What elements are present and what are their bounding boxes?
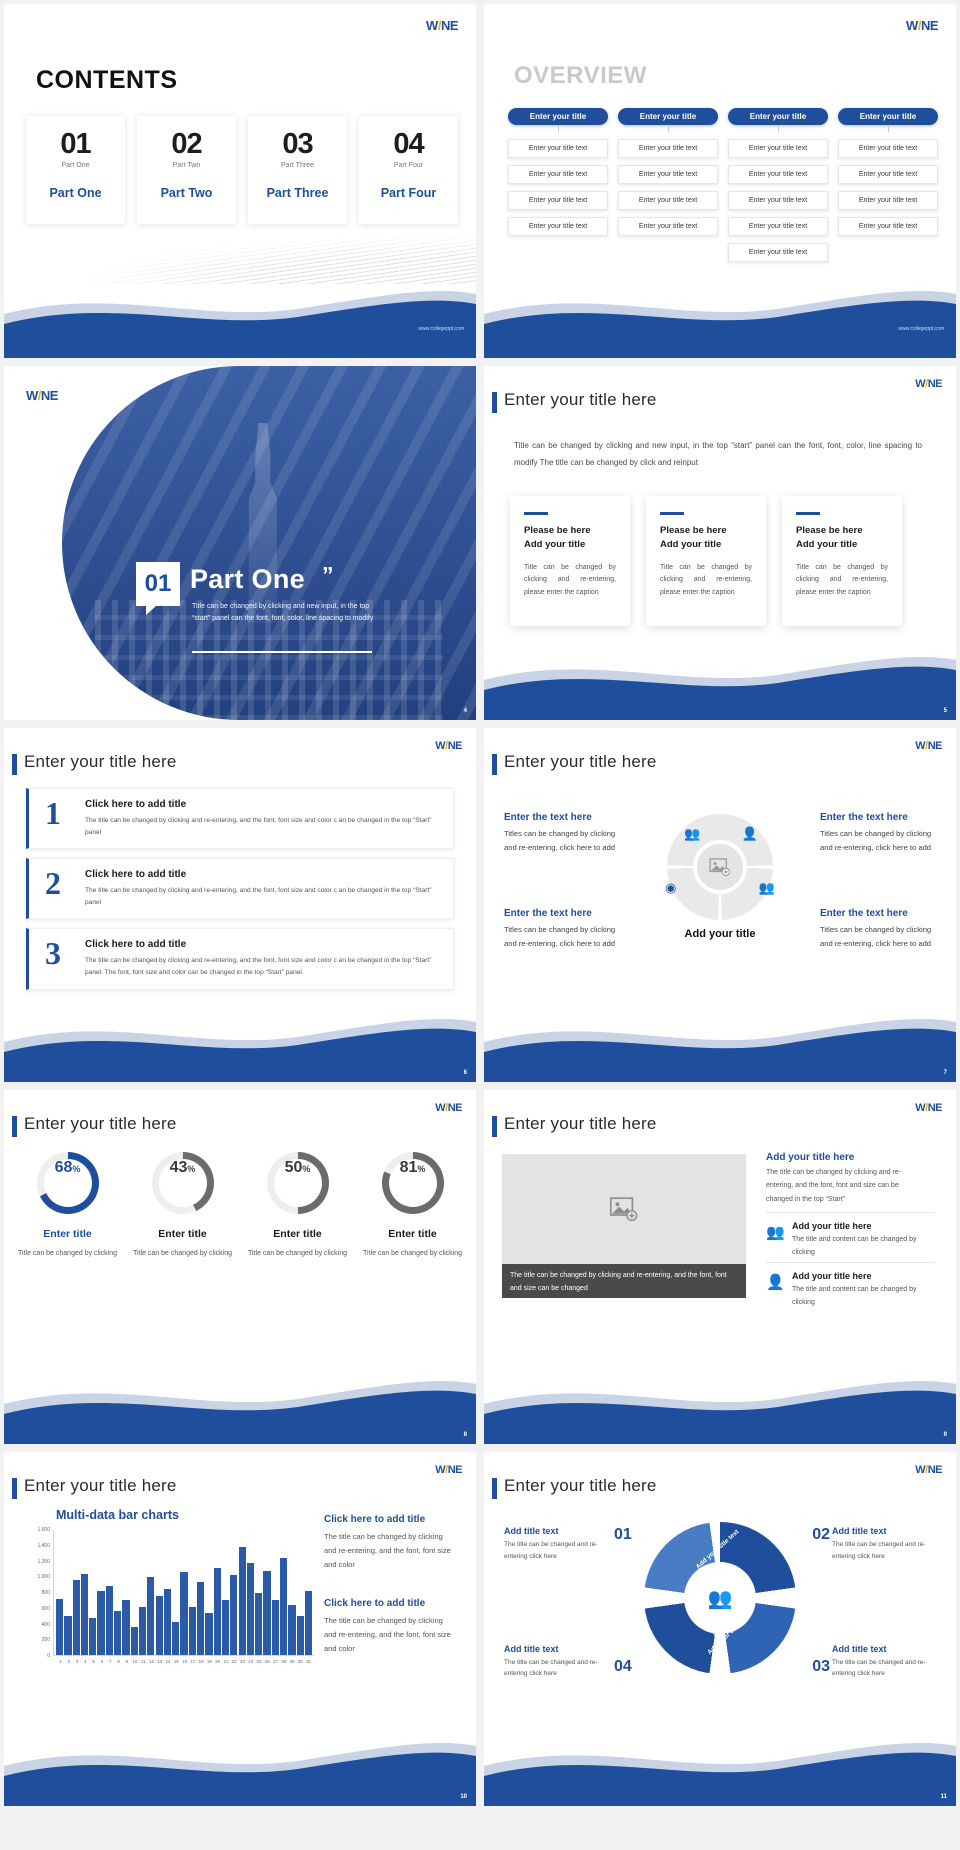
chart-bar: [180, 1572, 187, 1655]
plot-area: [53, 1530, 314, 1656]
person-icon: 👤: [766, 1273, 785, 1291]
card-name: Part Four: [381, 186, 437, 200]
card-heading-line1: Please be here: [796, 525, 863, 536]
chart-bar: [114, 1611, 121, 1655]
y-axis-ticks: 02004006008001,0001,2001,4001,600: [26, 1530, 52, 1656]
y-tick-label: 600: [42, 1606, 50, 1612]
block-heading: Enter the text here: [820, 812, 936, 823]
x-tick-label: 14: [164, 1659, 171, 1664]
card-body: Title can be changed by clicking and re-…: [524, 562, 616, 601]
overview-item[interactable]: Enter your title text: [728, 165, 828, 184]
x-tick-label: 10: [131, 1659, 138, 1664]
card-number: 01: [60, 130, 90, 159]
bar-chart: 02004006008001,0001,2001,4001,600 123456…: [26, 1530, 314, 1682]
page-number: 5: [944, 708, 947, 714]
diagram-block-bottom-left: Enter the text here Titles can be change…: [504, 908, 620, 951]
chart-note-2: Click here to add title The title can be…: [324, 1598, 456, 1656]
wave-decoration: [4, 1364, 476, 1444]
block-body: The title can be changed and re-entering…: [504, 1657, 608, 1680]
x-tick-label: 30: [297, 1659, 304, 1664]
x-tick-label: 12: [148, 1659, 155, 1664]
block-body: Titles can be changed by clicking and re…: [820, 827, 936, 855]
x-tick-label: 1: [57, 1659, 64, 1664]
chart-bar: [64, 1616, 71, 1655]
site-url: www.collegeppt.com: [898, 326, 944, 332]
chart-bar: [305, 1591, 312, 1655]
slide-contents: W/NE CONTENTS 01 Part One Part One 02 Pa…: [4, 4, 476, 358]
right-heading: Add your title here: [766, 1152, 854, 1163]
list-item[interactable]: 👤 Add your title here The title and cont…: [766, 1262, 934, 1309]
x-tick-label: 3: [74, 1659, 81, 1664]
donut-caption: Title can be changed by clicking: [248, 1248, 347, 1261]
donut-caption: Title can be changed by clicking: [363, 1248, 462, 1261]
card-subtitle: Part Three: [281, 162, 314, 169]
image-placeholder[interactable]: [502, 1154, 746, 1264]
y-tick-label: 200: [42, 1637, 50, 1643]
page-title: CONTENTS: [36, 66, 178, 95]
slide-part-one-divider: W/NE 01 Part One ” Title can be changed …: [4, 366, 476, 720]
slide-donut-stats: Enter your title here W/NE 68% Enter tit…: [4, 1090, 476, 1444]
group-people-icon: 👥: [684, 826, 700, 842]
chart-bar: [197, 1582, 204, 1655]
x-tick-label: 17: [189, 1659, 196, 1664]
x-tick-label: 11: [140, 1659, 147, 1664]
connector-line: [668, 125, 669, 132]
overview-item[interactable]: Enter your title text: [728, 139, 828, 158]
wave-decoration: [4, 278, 476, 358]
donut-hole: 50%: [274, 1159, 322, 1207]
wne-logo: W/NE: [26, 388, 58, 403]
chart-bar: [280, 1558, 287, 1655]
card-heading-line2: Add your title: [660, 539, 721, 550]
overview-item[interactable]: Enter your title text: [508, 217, 608, 236]
card-number: 04: [393, 130, 423, 159]
donut-value: 50: [285, 1159, 303, 1177]
chart-bar: [247, 1563, 254, 1655]
page-title: Enter your title here: [504, 1114, 657, 1134]
page-number: 10: [460, 1794, 467, 1800]
cycle-ring: 👥 Add your title text Add your title tex…: [644, 1522, 796, 1674]
overview-column: Enter your title Enter your title text E…: [618, 108, 718, 262]
block-body: Titles can be changed by clicking and re…: [504, 827, 620, 855]
overview-item[interactable]: Enter your title text: [728, 191, 828, 210]
x-tick-label: 22: [231, 1659, 238, 1664]
slide-numbered-list: Enter your title here W/NE 1 Click here …: [4, 728, 476, 1082]
x-tick-label: 24: [247, 1659, 254, 1664]
donut-chart: 68%: [37, 1152, 99, 1214]
chart-bar: [205, 1613, 212, 1655]
page-title: Enter your title here: [24, 752, 177, 772]
slide-bar-chart: Enter your title here W/NE Multi-data ba…: [4, 1452, 476, 1806]
x-tick-label: 20: [214, 1659, 221, 1664]
donut-chart: 43%: [152, 1152, 214, 1214]
chart-bar: [147, 1577, 154, 1655]
chart-bar: [222, 1600, 229, 1655]
quote-mark-icon: ”: [322, 562, 334, 589]
block-heading: Add title text: [504, 1644, 608, 1654]
card-name: Part One: [49, 186, 101, 200]
x-tick-label: 31: [305, 1659, 312, 1664]
donut-value: 68: [55, 1159, 73, 1177]
overview-columns: Enter your title Enter your title text E…: [508, 108, 938, 262]
wne-logo: W/NE: [435, 740, 462, 752]
chart-bar: [255, 1593, 262, 1656]
cycle-block-04: Add title text The title can be changed …: [504, 1644, 608, 1680]
overview-item[interactable]: Enter your title text: [508, 191, 608, 210]
card-subtitle: Part One: [61, 162, 89, 169]
x-tick-label: 5: [90, 1659, 97, 1664]
headset-person-icon: 👤: [742, 826, 758, 842]
x-tick-label: 8: [115, 1659, 122, 1664]
column-title-pill[interactable]: Enter your title: [508, 108, 608, 125]
chart-bar: [297, 1616, 304, 1655]
page-title: Enter your title here: [504, 390, 657, 410]
card-heading-line1: Please be here: [660, 525, 727, 536]
donut-value: 43: [170, 1159, 188, 1177]
divider-rule: [192, 651, 372, 653]
cycle-block-03: Add title text The title can be changed …: [832, 1644, 936, 1680]
block-heading: Enter the text here: [820, 908, 936, 919]
y-tick-label: 1,400: [37, 1543, 50, 1549]
two-people-icon: 👥: [766, 1223, 785, 1241]
wne-logo: W/NE: [915, 740, 942, 752]
x-tick-label: 19: [206, 1659, 213, 1664]
card-heading-line2: Add your title: [796, 539, 857, 550]
wne-logo: W/NE: [915, 378, 942, 390]
donut-chart: 50%: [267, 1152, 329, 1214]
x-tick-label: 13: [156, 1659, 163, 1664]
content-card[interactable]: 03 Part Three Part Three: [248, 116, 347, 224]
x-tick-label: 15: [173, 1659, 180, 1664]
x-axis-ticks: 1234567891011121314151617181920212223242…: [55, 1659, 314, 1664]
block-heading: Add title text: [504, 1526, 608, 1536]
overview-item[interactable]: Enter your title text: [838, 139, 938, 158]
card-heading-line2: Add your title: [524, 539, 585, 550]
wave-decoration: [484, 1364, 956, 1444]
overview-column: Enter your title Enter your title text E…: [508, 108, 608, 262]
overview-item[interactable]: Enter your title text: [618, 191, 718, 210]
info-card[interactable]: Please be here Add your title Title can …: [646, 496, 766, 626]
image-caption: The title can be changed by clicking and…: [502, 1264, 746, 1298]
segmented-ring-diagram: 👥 👤 ◉ 👥: [667, 814, 773, 920]
divider-body: W/NE 01 Part One ” Title can be changed …: [4, 366, 476, 720]
item-number: 1: [45, 797, 61, 829]
x-tick-label: 2: [65, 1659, 72, 1664]
note-body: The title can be changed by clicking and…: [324, 1614, 456, 1656]
content-card[interactable]: 04 Part Four Part Four: [359, 116, 458, 224]
cycle-number-02: 02: [812, 1526, 830, 1544]
chart-bar: [97, 1591, 104, 1655]
wave-decoration: [484, 640, 956, 720]
card-subtitle: Part Four: [394, 162, 423, 169]
card-name: Part Three: [267, 186, 329, 200]
site-url: www.collegeppt.com: [418, 326, 464, 332]
chart-bar: [189, 1607, 196, 1655]
y-tick-label: 1,600: [37, 1527, 50, 1533]
item-title: Click here to add title: [85, 939, 441, 950]
wne-logo: W/NE: [915, 1102, 942, 1114]
right-body: The title can be changed by clicking and…: [766, 1166, 926, 1206]
ring-center-image-placeholder[interactable]: [693, 840, 747, 894]
donut-unit: %: [302, 1164, 310, 1174]
item-body: The title and content can be changed by …: [792, 1234, 934, 1259]
chart-bar: [122, 1600, 129, 1655]
list-item[interactable]: 1 Click here to add title The title can …: [26, 788, 454, 849]
wne-logo: W/NE: [435, 1464, 462, 1476]
donut-unit: %: [187, 1164, 195, 1174]
chart-bar: [89, 1618, 96, 1656]
overview-item[interactable]: Enter your title text: [838, 165, 938, 184]
card-body: Title can be changed by clicking and re-…: [660, 562, 752, 601]
slide-image-list: Enter your title here W/NE The title can…: [484, 1090, 956, 1444]
y-tick-label: 1,200: [37, 1559, 50, 1565]
info-card[interactable]: Please be here Add your title Title can …: [782, 496, 902, 626]
donut-stat[interactable]: 68% Enter title Title can be changed by …: [18, 1152, 117, 1261]
accent-bar: [524, 512, 548, 515]
block-body: The title can be changed and re-entering…: [832, 1657, 936, 1680]
item-title: Add your title here: [792, 1271, 934, 1281]
page-title: OVERVIEW: [514, 62, 647, 90]
block-body: Titles can be changed by clicking and re…: [504, 923, 620, 951]
chart-bar: [272, 1600, 279, 1655]
diagram-block-top-left: Enter the text here Titles can be change…: [504, 812, 620, 855]
page-number: 4: [464, 708, 467, 714]
item-title: Click here to add title: [85, 799, 441, 810]
donut-unit: %: [72, 1164, 80, 1174]
cycle-number-03: 03: [812, 1658, 830, 1676]
overview-item[interactable]: Enter your title text: [508, 165, 608, 184]
donut-stat[interactable]: 81% Enter title Title can be changed by …: [363, 1152, 462, 1261]
block-body: The title can be changed and re-entering…: [832, 1539, 936, 1562]
column-title-pill[interactable]: Enter your title: [618, 108, 718, 125]
chart-bar: [288, 1605, 295, 1655]
y-tick-label: 0: [47, 1653, 50, 1659]
cycle-block-01: Add title text The title can be changed …: [504, 1526, 608, 1562]
note-heading: Click here to add title: [324, 1514, 456, 1525]
x-tick-label: 25: [255, 1659, 262, 1664]
overview-column: Enter your title Enter your title text E…: [838, 108, 938, 262]
donut-hole: 43%: [159, 1159, 207, 1207]
page-title: Enter your title here: [24, 1476, 177, 1496]
x-tick-label: 18: [198, 1659, 205, 1664]
overview-column: Enter your title Enter your title text E…: [728, 108, 828, 262]
item-body: The title can be changed by clicking and…: [85, 885, 441, 908]
item-title: Add your title here: [792, 1221, 934, 1231]
note-heading: Click here to add title: [324, 1598, 456, 1609]
section-description: Title can be changed by clicking and new…: [192, 601, 382, 625]
content-card[interactable]: 02 Part Two Part Two: [137, 116, 236, 224]
cycle-number-01: 01: [614, 1526, 632, 1544]
x-tick-label: 16: [181, 1659, 188, 1664]
overview-item[interactable]: Enter your title text: [728, 243, 828, 262]
donut-title: Enter title: [158, 1228, 206, 1240]
slide-circle-diagram: Enter your title here W/NE Enter the tex…: [484, 728, 956, 1082]
overview-item[interactable]: Enter your title text: [508, 139, 608, 158]
y-tick-label: 400: [42, 1622, 50, 1628]
chart-bar: [56, 1599, 63, 1655]
page-number: 9: [944, 1432, 947, 1438]
wave-decoration: [4, 1726, 476, 1806]
x-tick-label: 29: [288, 1659, 295, 1664]
donut-title: Enter title: [43, 1228, 91, 1240]
x-tick-label: 21: [222, 1659, 229, 1664]
donut-stat[interactable]: 50% Enter title Title can be changed by …: [248, 1152, 347, 1261]
overview-item[interactable]: Enter your title text: [728, 217, 828, 236]
card-heading: Please be here Add your title: [660, 524, 752, 552]
block-heading: Add title text: [832, 1644, 936, 1654]
page-number: 7: [944, 1070, 947, 1076]
block-body: The title can be changed and re-entering…: [504, 1539, 608, 1562]
page-number: 6: [464, 1070, 467, 1076]
chart-bar: [230, 1575, 237, 1655]
item-body: The title can be changed by clicking and…: [85, 815, 441, 838]
x-tick-label: 7: [107, 1659, 114, 1664]
block-heading: Enter the text here: [504, 812, 620, 823]
donut-value: 81: [400, 1159, 418, 1177]
wne-logo: W/NE: [426, 18, 458, 33]
overview-item[interactable]: Enter your title text: [838, 191, 938, 210]
wave-decoration: [484, 278, 956, 358]
card-subtitle: Part Two: [173, 162, 201, 169]
list-item[interactable]: 3 Click here to add title The title can …: [26, 928, 454, 990]
item-title: Click here to add title: [85, 869, 441, 880]
chart-bar: [81, 1574, 88, 1655]
slide-cycle-diagram: Enter your title here W/NE 👥 Add your ti…: [484, 1452, 956, 1806]
card-number: 02: [171, 130, 201, 159]
donut-unit: %: [417, 1164, 425, 1174]
donut-title: Enter title: [273, 1228, 321, 1240]
section-number-badge: 01: [136, 562, 180, 606]
chart-bar: [139, 1607, 146, 1655]
x-tick-label: 26: [264, 1659, 271, 1664]
diagram-block-bottom-right: Enter the text here Titles can be change…: [820, 908, 936, 951]
diagram-center-label: Add your title: [656, 928, 784, 940]
cycle-block-02: Add title text The title can be changed …: [832, 1526, 936, 1562]
item-number: 2: [45, 867, 61, 899]
donut-stat[interactable]: 43% Enter title Title can be changed by …: [133, 1152, 232, 1261]
chart-bar: [172, 1622, 179, 1655]
overview-item[interactable]: Enter your title text: [838, 217, 938, 236]
page-title: Enter your title here: [504, 752, 657, 772]
column-title-pill[interactable]: Enter your title: [728, 108, 828, 125]
list-item[interactable]: 👥 Add your title here The title and cont…: [766, 1212, 934, 1259]
item-number: 3: [45, 937, 61, 969]
x-tick-label: 4: [82, 1659, 89, 1664]
chart-bar: [131, 1627, 138, 1655]
accent-bar: [660, 512, 684, 515]
x-tick-label: 28: [280, 1659, 287, 1664]
card-group: Please be here Add your title Title can …: [510, 496, 902, 626]
wave-decoration: [484, 1002, 956, 1082]
slide-three-cards: Enter your title here W/NE Title can be …: [484, 366, 956, 720]
x-tick-label: 9: [123, 1659, 130, 1664]
person-circle-icon: ◉: [665, 880, 676, 896]
donut-caption: Title can be changed by clicking: [18, 1248, 117, 1261]
column-title-pill[interactable]: Enter your title: [838, 108, 938, 125]
contents-cards: 01 Part One Part One 02 Part Two Part Tw…: [26, 116, 458, 224]
slide-deck-sheet: W/NE CONTENTS 01 Part One Part One 02 Pa…: [0, 0, 960, 1850]
card-body: Title can be changed by clicking and re-…: [796, 562, 888, 601]
image-placeholder-icon: [709, 858, 731, 876]
chart-bar: [106, 1586, 113, 1655]
section-title: Part One: [190, 564, 305, 595]
slide-overview: W/NE OVERVIEW Enter your title Enter you…: [484, 4, 956, 358]
x-tick-label: 27: [272, 1659, 279, 1664]
y-tick-label: 1,000: [37, 1574, 50, 1580]
donut-title: Enter title: [388, 1228, 436, 1240]
page-number: 11: [941, 1794, 947, 1800]
overview-item[interactable]: Enter your title text: [618, 165, 718, 184]
chart-bar: [73, 1580, 80, 1655]
item-body: The title and content can be changed by …: [792, 1284, 934, 1309]
team-icon: 👥: [708, 1586, 733, 1611]
page-title: Enter your title here: [504, 1476, 657, 1496]
note-body: The title can be changed by clicking and…: [324, 1530, 456, 1572]
card-heading-line1: Please be here: [524, 525, 591, 536]
wne-logo: W/NE: [915, 1464, 942, 1476]
chart-title: Multi-data bar charts: [56, 1508, 179, 1522]
donut-caption: Title can be changed by clicking: [133, 1248, 232, 1261]
chart-bar: [214, 1568, 221, 1656]
overview-item[interactable]: Enter your title text: [618, 217, 718, 236]
card-number: 03: [282, 130, 312, 159]
info-card[interactable]: Please be here Add your title Title can …: [510, 496, 630, 626]
team-icon: 👥: [759, 880, 775, 896]
list-item[interactable]: 2 Click here to add title The title can …: [26, 858, 454, 919]
connector-line: [888, 125, 889, 132]
intro-paragraph: Title can be changed by clicking and new…: [514, 438, 922, 472]
connector-line: [778, 125, 779, 132]
donut-group: 68% Enter title Title can be changed by …: [18, 1152, 462, 1261]
numbered-rows: 1 Click here to add title The title can …: [26, 788, 454, 999]
x-tick-label: 23: [239, 1659, 246, 1664]
cycle-number-04: 04: [614, 1658, 632, 1676]
donut-hole: 81%: [389, 1159, 437, 1207]
y-tick-label: 800: [42, 1590, 50, 1596]
item-body: The title can be changed by clicking and…: [85, 955, 441, 978]
accent-bar: [796, 512, 820, 515]
content-card[interactable]: 01 Part One Part One: [26, 116, 125, 224]
page-number: 8: [464, 1432, 467, 1438]
overview-item[interactable]: Enter your title text: [618, 139, 718, 158]
donut-hole: 68%: [44, 1159, 92, 1207]
wne-logo: W/NE: [435, 1102, 462, 1114]
wne-logo: W/NE: [906, 18, 938, 33]
wave-decoration: [484, 1726, 956, 1806]
wave-decoration: [4, 1002, 476, 1082]
decorative-lines: [4, 214, 476, 284]
chart-note-1: Click here to add title The title can be…: [324, 1514, 456, 1572]
card-name: Part Two: [161, 186, 213, 200]
campus-photo: [62, 366, 476, 720]
chart-bar: [164, 1589, 171, 1655]
page-title: Enter your title here: [24, 1114, 177, 1134]
diagram-block-top-right: Enter the text here Titles can be change…: [820, 812, 936, 855]
card-heading: Please be here Add your title: [796, 524, 888, 552]
block-heading: Enter the text here: [504, 908, 620, 919]
connector-line: [558, 125, 559, 132]
block-heading: Add title text: [832, 1526, 936, 1536]
image-placeholder-icon: [609, 1197, 639, 1221]
chart-bar: [239, 1547, 246, 1655]
card-heading: Please be here Add your title: [524, 524, 616, 552]
donut-chart: 81%: [382, 1152, 444, 1214]
x-tick-label: 6: [98, 1659, 105, 1664]
chart-bar: [156, 1596, 163, 1655]
block-body: Titles can be changed by clicking and re…: [820, 923, 936, 951]
chart-bar: [263, 1571, 270, 1655]
